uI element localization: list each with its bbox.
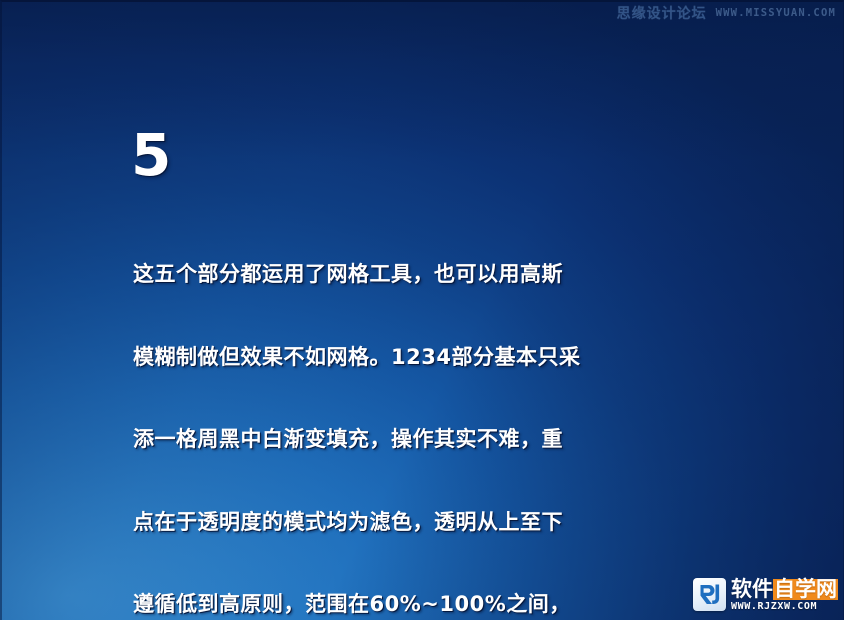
watermark-top-right: 思缘设计论坛 WWW.MISSYUAN.COM bbox=[617, 3, 836, 23]
body-line: 这五个部分都运用了网格工具，也可以用高斯 bbox=[133, 261, 727, 289]
body-paragraph: 这五个部分都运用了网格工具，也可以用高斯 模糊制做但效果不如网格。1234部分基… bbox=[133, 206, 727, 620]
watermark-url: WWW.MISSYUAN.COM bbox=[716, 7, 836, 19]
body-line: 点在于透明度的模式均为滤色，透明从上至下 bbox=[133, 509, 727, 537]
body-line: 模糊制做但效果不如网格。1234部分基本只采 bbox=[133, 344, 727, 372]
body-line: 添一格周黑中白渐变填充，操作其实不难，重 bbox=[133, 426, 727, 454]
logo-site-name: 软件 自学网 bbox=[731, 579, 838, 600]
logo-name-part-1: 软件 bbox=[731, 579, 773, 600]
watermark-site-name: 思缘设计论坛 bbox=[617, 3, 707, 23]
body-line: 遵循低到高原则，范围在60%~100%之间， bbox=[133, 591, 727, 619]
rj-logo-icon bbox=[693, 578, 726, 611]
logo-name-part-2: 自学网 bbox=[773, 579, 838, 600]
logo-text-block: 软件 自学网 WWW.RJZXW.COM bbox=[731, 578, 838, 612]
logo-url: WWW.RJZXW.COM bbox=[731, 602, 838, 612]
slide-canvas: 5 这五个部分都运用了网格工具，也可以用高斯 模糊制做但效果不如网格。1234部… bbox=[0, 0, 844, 620]
logo-bottom-right: 软件 自学网 WWW.RJZXW.COM bbox=[693, 578, 838, 612]
step-number: 5 bbox=[131, 126, 171, 184]
